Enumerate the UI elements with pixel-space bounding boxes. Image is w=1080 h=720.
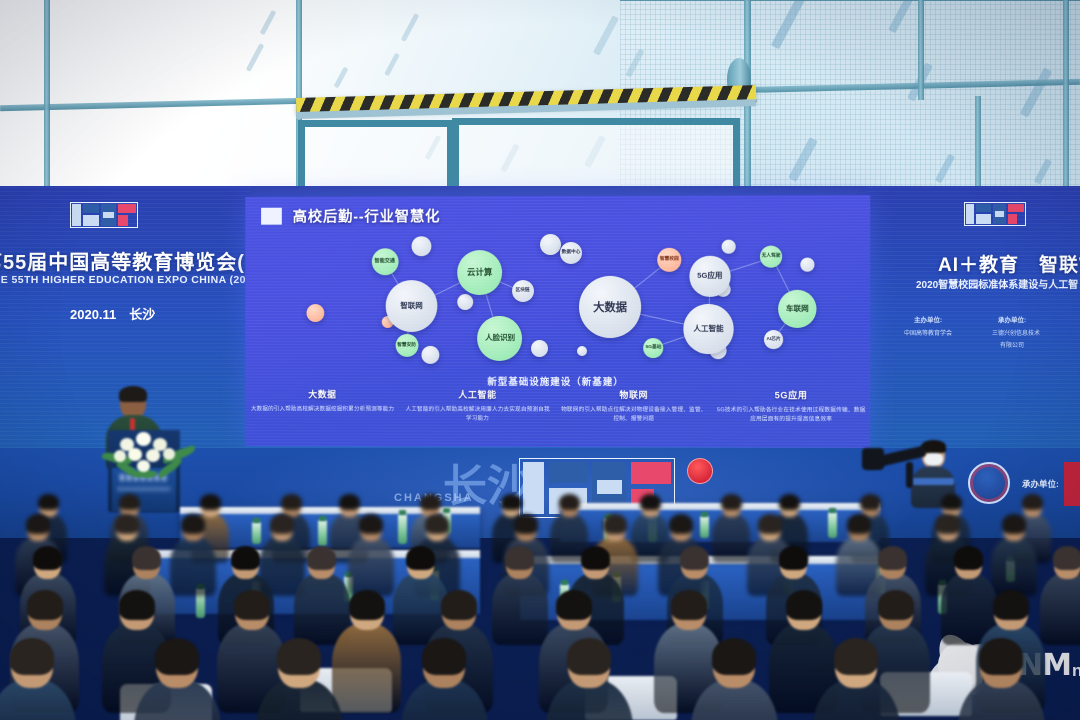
person-hair — [514, 514, 538, 534]
watermark-suffix: net — [1072, 661, 1080, 681]
person-hair — [422, 638, 466, 675]
bottle-cap — [829, 508, 836, 513]
bubble-label: 人脸识别 — [485, 335, 515, 343]
bubble-plain — [421, 346, 439, 364]
column-header: 人工智能 — [404, 388, 552, 401]
person-hair — [26, 514, 50, 534]
person-hair — [119, 494, 140, 510]
column-body: 物联网的引入帮助点位解决对物理设备接入管理、监管、控制、报警问题 — [559, 406, 708, 425]
gimbal-handle — [906, 462, 913, 488]
person-hair — [441, 590, 477, 620]
person-hair — [38, 494, 59, 510]
bubble-2: 人工智能 — [683, 304, 733, 354]
podium-flowers — [106, 430, 192, 478]
person-hair — [115, 514, 139, 534]
person-hair — [1053, 546, 1080, 570]
water-bottle — [318, 520, 327, 546]
projection-screen: 高校后勤--行业智慧化 大数据智联网人工智能云计算人脸识别5G应用车联网智能交通… — [245, 195, 870, 448]
slide-title: 高校后勤--行业智慧化 — [293, 205, 441, 226]
person-hair — [501, 494, 522, 510]
person-hair — [1022, 494, 1043, 510]
person-hair — [640, 494, 661, 510]
host-emblem — [968, 462, 1010, 504]
audience-member — [546, 640, 633, 720]
person-hair — [277, 638, 321, 675]
person-hair — [270, 514, 294, 534]
person-hair — [307, 546, 336, 570]
slide-column-1: 人工智能人工智能的引入帮助高校解决用廉人力去实现自预测自我学习能力 — [400, 388, 556, 425]
audience-member — [348, 516, 394, 600]
red-banner-strip — [1064, 462, 1080, 506]
column-header: 大数据 — [249, 388, 396, 401]
person-torso — [991, 537, 1037, 596]
bubble-plain — [412, 236, 432, 256]
bubble-label: 区块链 — [516, 289, 530, 294]
person-hair — [779, 494, 800, 510]
camera-body — [862, 448, 884, 470]
person-hair — [556, 590, 592, 620]
person-hair — [779, 546, 808, 570]
bubble-plain — [531, 340, 548, 357]
audience-member — [958, 640, 1045, 720]
person-hair — [119, 590, 155, 620]
face-mask-icon — [924, 453, 943, 466]
heec-logo-right — [966, 204, 1024, 224]
column-body: 人工智能的引入帮助高校解决用廉人力去实现自预测自我学习能力 — [404, 406, 552, 425]
person-hair — [200, 494, 221, 510]
person-hair — [847, 514, 871, 534]
slide-column-3: 5G应用5G技术的引入帮助各行业在技术使用过程数据传输、数据应用层面有的提升提高… — [712, 388, 870, 425]
person-hair — [559, 494, 580, 510]
person-hair — [979, 638, 1023, 675]
person-hair — [132, 546, 161, 570]
banner-right: AI＋教育 智联W 2020智慧校园标准体系建设与人工智 主办单位: 中国高等教… — [866, 186, 1080, 456]
slide-title-row: 高校后勤--行业智慧化 — [261, 205, 440, 226]
org-right-value-1: 三德兴创信息技术 — [992, 328, 1040, 337]
red-round-logo — [687, 458, 713, 484]
bubble-10: 数据中心 — [560, 242, 582, 264]
bubble-3: 云计算 — [457, 250, 502, 295]
bubble-label: AI芯片 — [766, 337, 780, 342]
audience-member — [256, 640, 343, 720]
title-bullet-square — [261, 208, 282, 225]
person-hair — [420, 494, 441, 510]
bubble-label: 智能交通 — [375, 259, 396, 264]
conference-photo: 第55届中国高等教育博览会(2020) THE 55TH HIGHER EDUC… — [0, 0, 1080, 720]
infrastructure-label: 新型基础设施建设（新基建） — [245, 374, 870, 389]
person-hair — [878, 546, 907, 570]
bubble-plain — [540, 234, 561, 255]
person-hair — [680, 546, 709, 570]
person-hair — [721, 494, 742, 510]
org-left-label: 主办单位: — [914, 314, 942, 324]
water-bottle — [398, 514, 407, 544]
person-hair — [155, 638, 199, 675]
bubble-5: 5G应用 — [689, 256, 730, 297]
podium-subtext — [118, 487, 170, 491]
bubble-chart: 大数据智联网人工智能云计算人脸识别5G应用车联网智能交通智慧安防区块链数据中心智… — [245, 233, 870, 369]
audience-member — [991, 516, 1037, 600]
person-hair — [567, 638, 611, 675]
person-hair — [339, 494, 360, 510]
person-hair — [1002, 514, 1026, 534]
slide-columns: 大数据大数据的引入帮助高校解决数据挖掘积累分析预测等能力人工智能人工智能的引入帮… — [245, 388, 870, 426]
column-header: 物联网 — [559, 388, 708, 401]
glass-curtain-wall — [0, 0, 1080, 200]
bubble-plain — [307, 304, 325, 322]
person-hair — [231, 546, 260, 570]
bubble-label: 大数据 — [593, 301, 627, 313]
person-hair — [671, 590, 707, 620]
bubble-13: 5G基站 — [643, 338, 663, 358]
bubble-plain — [722, 240, 736, 254]
bubble-0: 大数据 — [579, 276, 641, 338]
bubble-label: 5G应用 — [697, 272, 722, 280]
bottle-cap — [561, 580, 568, 585]
person-hair — [349, 590, 385, 620]
person-hair — [234, 590, 270, 620]
person-hair — [10, 638, 54, 675]
person-hair — [786, 590, 822, 620]
bubble-label: 5G基站 — [645, 346, 661, 351]
person-hair — [181, 514, 205, 534]
bubble-plain — [800, 258, 814, 272]
banner-left-title-en: THE 55TH HIGHER EDUCATION EXPO CHINA (20… — [0, 274, 262, 286]
column-body: 5G技术的引入帮助各行业在技术使用过程数据传输、数据应用层面有的提升提高信息效率 — [716, 406, 866, 425]
audience-member — [134, 640, 221, 720]
person-hair — [505, 546, 534, 570]
audience-member — [813, 640, 900, 720]
bubble-label: 无人驾驶 — [762, 254, 781, 259]
bubble-label: 云计算 — [467, 268, 492, 277]
bubble-9: 区块链 — [512, 280, 534, 302]
bubble-12: 无人驾驶 — [760, 246, 782, 268]
org-left-value: 中国高等教育学会 — [904, 328, 952, 337]
person-hair — [33, 546, 62, 570]
bubble-label: 智慧安防 — [398, 343, 417, 348]
person-hair — [406, 546, 435, 570]
person-hair — [954, 546, 983, 570]
person-hair — [860, 494, 881, 510]
bottle-cap — [319, 516, 326, 521]
person-hair — [941, 494, 962, 510]
bubble-6: 车联网 — [778, 290, 816, 328]
bubble-label: 人工智能 — [693, 325, 723, 333]
bubble-plain — [577, 346, 587, 356]
audience-member — [170, 516, 216, 600]
slide-column-0: 大数据大数据的引入帮助高校解决数据挖掘积累分析预测等能力 — [245, 388, 400, 425]
bubble-label: 智慧校园 — [660, 257, 679, 262]
person-hair — [359, 514, 383, 534]
org-right-label: 承办单位: — [998, 314, 1026, 324]
banner-right-title-cn: AI＋教育 智联W — [938, 250, 1080, 277]
audience-member — [0, 640, 76, 720]
slide-column-2: 物联网物联网的引入帮助点位解决对物理设备接入管理、监管、控制、报警问题 — [556, 388, 713, 425]
bubble-8: 智慧安防 — [396, 334, 419, 357]
stage-host-label: 承办单位: — [1022, 478, 1059, 490]
audience-member — [1040, 548, 1080, 651]
bubble-11: 智慧校园 — [657, 248, 681, 272]
bubble-label: 车联网 — [786, 305, 809, 313]
person-hair — [603, 514, 627, 534]
org-right-value-2: 有限公司 — [1000, 340, 1024, 349]
person-hair — [993, 590, 1029, 620]
person-hair — [425, 514, 449, 534]
person-hair — [758, 514, 782, 534]
person-hair — [834, 638, 878, 675]
person-hair — [281, 494, 302, 510]
column-body: 大数据的引入帮助高校解决数据挖掘积累分析预测等能力 — [249, 405, 396, 414]
bottle-cap — [399, 510, 406, 515]
bubble-7: 智能交通 — [372, 248, 399, 275]
person-hair — [669, 514, 693, 534]
person-torso — [1040, 573, 1080, 645]
heec-logo-left — [72, 204, 136, 226]
banner-right-subtitle: 2020智慧校园标准体系建设与人工智 — [916, 276, 1078, 291]
bubble-14: AI芯片 — [764, 330, 783, 349]
person-hair — [712, 638, 756, 675]
person-torso — [170, 537, 216, 596]
person-hair — [581, 546, 610, 570]
bubble-label: 智联网 — [400, 302, 422, 310]
person-hair — [27, 590, 63, 620]
bubble-1: 智联网 — [386, 280, 438, 332]
person-hair — [878, 590, 914, 620]
person-torso — [348, 537, 394, 596]
bubble-plain — [457, 294, 473, 310]
bubble-4: 人脸识别 — [477, 316, 522, 361]
banner-left-subtitle: 2020.11 长沙 — [70, 304, 155, 323]
cameraman-sash — [910, 478, 954, 485]
column-header: 5G应用 — [716, 388, 866, 401]
audience-member — [691, 640, 778, 720]
bubble-label: 数据中心 — [562, 250, 581, 255]
person-hair — [936, 514, 960, 534]
audience-member — [401, 640, 488, 720]
